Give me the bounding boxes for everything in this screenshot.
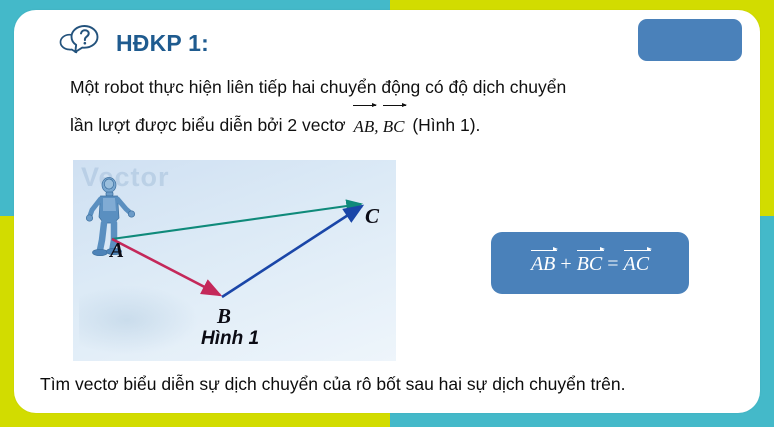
content-card: HĐKP 1: Một robot thực hiện liên tiếp ha…	[14, 10, 760, 413]
vector-separator: ,	[374, 117, 378, 136]
blue-placeholder-chip[interactable]	[638, 19, 742, 61]
figure-caption: Hình 1	[201, 328, 259, 350]
vector-notation-group: AB, BC	[350, 106, 407, 146]
prompt-line-1: Một robot thực hiện liên tiếp hai chuyển…	[70, 77, 566, 97]
header: HĐKP 1:	[56, 22, 209, 64]
formula-plus: +	[555, 253, 576, 275]
vector-ab-arrow	[112, 239, 220, 295]
footer-question: Tìm vectơ biểu diễn sự dịch chuyển của r…	[40, 374, 740, 395]
formula-vector-ab: AB	[531, 251, 555, 276]
figure-hinh-1: Vector	[73, 160, 396, 361]
prompt-line-2-suffix: (Hình 1).	[412, 115, 480, 135]
page-title: HĐKP 1:	[116, 30, 209, 57]
formula-vector-bc: BC	[577, 251, 603, 276]
figure-point-label-b: B	[217, 304, 231, 329]
prompt-paragraph: Một robot thực hiện liên tiếp hai chuyển…	[70, 68, 718, 146]
slide-root: HĐKP 1: Một robot thực hiện liên tiếp ha…	[0, 0, 774, 427]
vector-ab-inline: AB	[353, 106, 374, 146]
formula-vector-ac: AC	[624, 251, 650, 276]
figure-point-label-c: C	[365, 204, 379, 229]
prompt-line-2-prefix: lần lượt được biểu diễn bởi 2 vectơ	[70, 115, 346, 135]
figure-point-label-a: A	[110, 238, 124, 263]
question-speech-bubble-icon	[56, 22, 102, 64]
vector-bc-inline: BC	[383, 106, 405, 146]
formula-equals: =	[602, 253, 623, 275]
formula-text: AB+BC=AC	[531, 251, 649, 276]
vector-ac-arrow	[112, 204, 361, 239]
formula-box: AB+BC=AC	[491, 232, 689, 294]
